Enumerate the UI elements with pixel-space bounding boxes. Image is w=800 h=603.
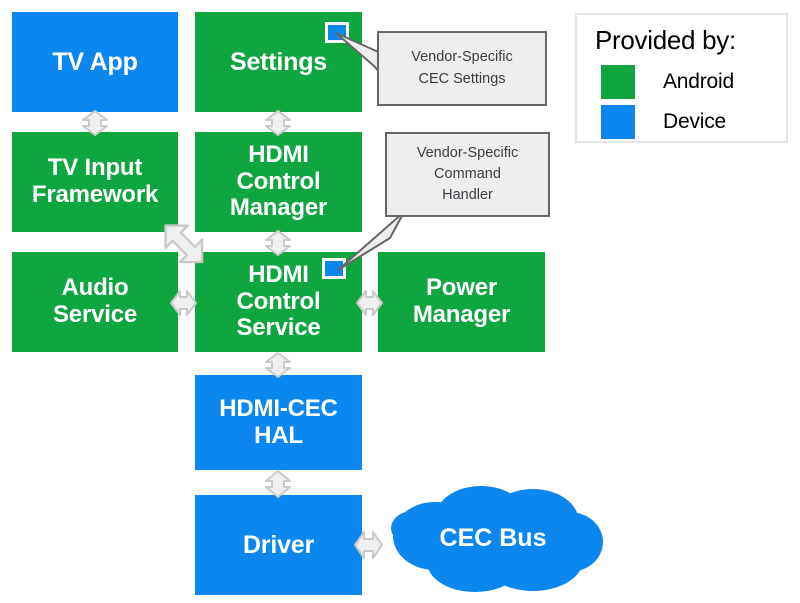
arrow-driver-to-cec-bus — [354, 524, 384, 566]
block-power-manager-label: Power Manager — [378, 275, 545, 329]
legend-item-android: Android — [601, 65, 734, 99]
callout-tail-command-handler — [330, 208, 420, 278]
arrow-tv-input-framework-to-hdmi-control-service — [156, 216, 216, 274]
legend-swatch-device-icon — [601, 105, 635, 139]
block-tv-input-framework[interactable]: TV Input Framework — [12, 132, 178, 232]
arrow-audio-service-to-hdmi-control-service — [170, 283, 198, 323]
block-tv-app[interactable]: TV App — [12, 12, 178, 112]
arrow-hdmi-cec-hal-to-driver — [259, 470, 297, 498]
arrow-hdmi-control-manager-to-hdmi-control-service — [259, 230, 297, 256]
arrow-tv-app-to-tv-input-framework — [76, 110, 114, 136]
block-tv-input-framework-label: TV Input Framework — [12, 155, 178, 209]
legend-label-device: Device — [663, 110, 726, 134]
block-hdmi-cec-hal[interactable]: HDMI-CEC HAL — [195, 375, 362, 470]
block-audio-service-label: Audio Service — [12, 275, 178, 329]
block-driver[interactable]: Driver — [195, 495, 362, 595]
cloud-cec-bus[interactable]: CEC Bus — [383, 480, 603, 595]
block-tv-app-label: TV App — [12, 48, 178, 76]
legend-swatch-android-icon — [601, 65, 635, 99]
block-audio-service[interactable]: Audio Service — [12, 252, 178, 352]
arrow-hdmi-control-service-to-power-manager — [356, 283, 384, 323]
arrow-hdmi-control-service-to-hdmi-cec-hal — [259, 352, 297, 378]
diagram-canvas: TV App Settings TV Input Framework HDMI … — [0, 0, 800, 603]
callout-cec-settings: Vendor-Specific CEC Settings — [377, 31, 547, 106]
block-hdmi-cec-hal-label: HDMI-CEC HAL — [195, 396, 362, 450]
cloud-cec-bus-label: CEC Bus — [383, 524, 603, 553]
legend-title: Provided by: — [595, 25, 736, 56]
legend: Provided by: Android Device — [575, 13, 788, 143]
callout-command-handler: Vendor-Specific Command Handler — [385, 132, 550, 217]
callout-cec-settings-text: Vendor-Specific CEC Settings — [411, 47, 513, 89]
arrow-settings-to-hdmi-control-manager — [259, 110, 297, 136]
block-driver-label: Driver — [195, 531, 362, 559]
legend-label-android: Android — [663, 70, 734, 94]
callout-command-handler-text: Vendor-Specific Command Handler — [417, 143, 519, 206]
legend-item-device: Device — [601, 105, 726, 139]
